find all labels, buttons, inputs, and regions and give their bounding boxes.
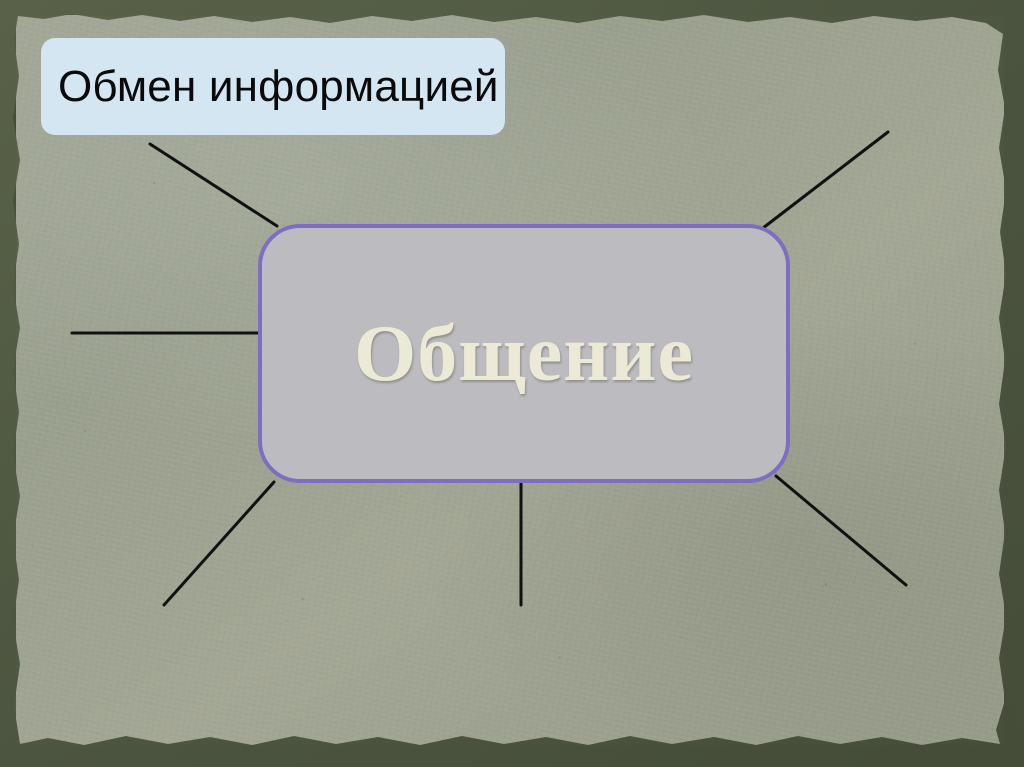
center-node-label: Общение <box>354 314 694 394</box>
connector-top-right <box>763 132 888 228</box>
branch-node-obmen-informaciey[interactable]: Обмен информацией <box>41 38 505 135</box>
branch-node-label: Обмен информацией <box>58 65 499 109</box>
slide-canvas: Обмен информацией Общение <box>0 0 1024 767</box>
connector-top-left <box>150 144 277 226</box>
connector-bottom-left <box>164 482 274 605</box>
center-node-obshchenie[interactable]: Общение <box>258 224 790 483</box>
connector-bottom-right <box>776 476 906 585</box>
